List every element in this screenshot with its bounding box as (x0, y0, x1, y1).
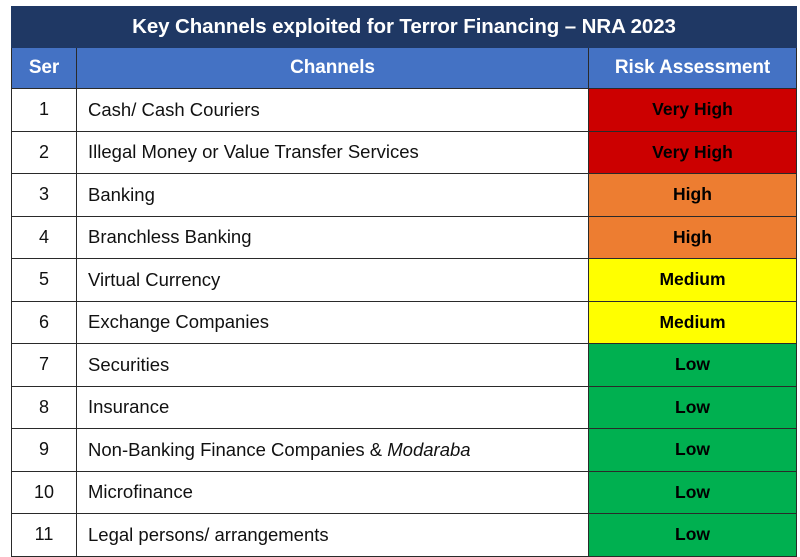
channel-text: Banking (88, 184, 155, 205)
channel-text: Microfinance (88, 481, 193, 502)
table-head: Key Channels exploited for Terror Financ… (12, 7, 797, 89)
table-row: 2Illegal Money or Value Transfer Service… (12, 131, 797, 174)
cell-channel-name: Illegal Money or Value Transfer Services (77, 131, 589, 174)
cell-serial-number: 6 (12, 301, 77, 344)
cell-risk-level-very_high: Very High (589, 89, 797, 132)
table-row: 9Non-Banking Finance Companies & Modarab… (12, 429, 797, 472)
cell-risk-level-low: Low (589, 514, 797, 557)
table-row: 7SecuritiesLow (12, 344, 797, 387)
table-row: 11Legal persons/ arrangementsLow (12, 514, 797, 557)
channel-text: Legal persons/ arrangements (88, 524, 329, 545)
cell-risk-level-very_high: Very High (589, 131, 797, 174)
table-row: 3BankingHigh (12, 174, 797, 217)
table-row: 10MicrofinanceLow (12, 471, 797, 514)
cell-serial-number: 4 (12, 216, 77, 259)
cell-risk-level-low: Low (589, 386, 797, 429)
column-header-risk-assessment: Risk Assessment (589, 48, 797, 89)
channel-text: Illegal Money or Value Transfer Services (88, 141, 419, 162)
channel-text: Virtual Currency (88, 269, 220, 290)
cell-channel-name: Non-Banking Finance Companies & Modaraba (77, 429, 589, 472)
cell-serial-number: 9 (12, 429, 77, 472)
cell-channel-name: Insurance (77, 386, 589, 429)
cell-serial-number: 8 (12, 386, 77, 429)
cell-serial-number: 1 (12, 89, 77, 132)
page-root: Key Channels exploited for Terror Financ… (0, 0, 800, 549)
cell-serial-number: 10 (12, 471, 77, 514)
cell-risk-level-low: Low (589, 429, 797, 472)
table-row: 8InsuranceLow (12, 386, 797, 429)
cell-risk-level-low: Low (589, 344, 797, 387)
cell-channel-name: Securities (77, 344, 589, 387)
channel-text-italic: Modaraba (387, 439, 470, 460)
cell-serial-number: 7 (12, 344, 77, 387)
table-body: 1Cash/ Cash CouriersVery High2Illegal Mo… (12, 89, 797, 557)
cell-serial-number: 3 (12, 174, 77, 217)
cell-risk-level-medium: Medium (589, 301, 797, 344)
channel-text: Cash/ Cash Couriers (88, 99, 260, 120)
cell-risk-level-high: High (589, 216, 797, 259)
cell-serial-number: 5 (12, 259, 77, 302)
cell-serial-number: 2 (12, 131, 77, 174)
table-title: Key Channels exploited for Terror Financ… (12, 7, 797, 48)
cell-channel-name: Virtual Currency (77, 259, 589, 302)
cell-risk-level-high: High (589, 174, 797, 217)
table-row: 4Branchless BankingHigh (12, 216, 797, 259)
channel-text: Insurance (88, 396, 169, 417)
cell-risk-level-low: Low (589, 471, 797, 514)
table-row: 5Virtual CurrencyMedium (12, 259, 797, 302)
header-row: Ser Channels Risk Assessment (12, 48, 797, 89)
risk-assessment-table: Key Channels exploited for Terror Financ… (11, 6, 797, 557)
channel-text: Exchange Companies (88, 311, 269, 332)
cell-channel-name: Banking (77, 174, 589, 217)
cell-channel-name: Exchange Companies (77, 301, 589, 344)
cell-risk-level-medium: Medium (589, 259, 797, 302)
column-header-channels: Channels (77, 48, 589, 89)
cell-channel-name: Cash/ Cash Couriers (77, 89, 589, 132)
cell-serial-number: 11 (12, 514, 77, 557)
title-row: Key Channels exploited for Terror Financ… (12, 7, 797, 48)
channel-text: Branchless Banking (88, 226, 252, 247)
table-row: 6Exchange CompaniesMedium (12, 301, 797, 344)
channel-text: Non-Banking Finance Companies & (88, 439, 387, 460)
channel-text: Securities (88, 354, 169, 375)
column-header-ser: Ser (12, 48, 77, 89)
cell-channel-name: Microfinance (77, 471, 589, 514)
table-row: 1Cash/ Cash CouriersVery High (12, 89, 797, 132)
cell-channel-name: Legal persons/ arrangements (77, 514, 589, 557)
cell-channel-name: Branchless Banking (77, 216, 589, 259)
